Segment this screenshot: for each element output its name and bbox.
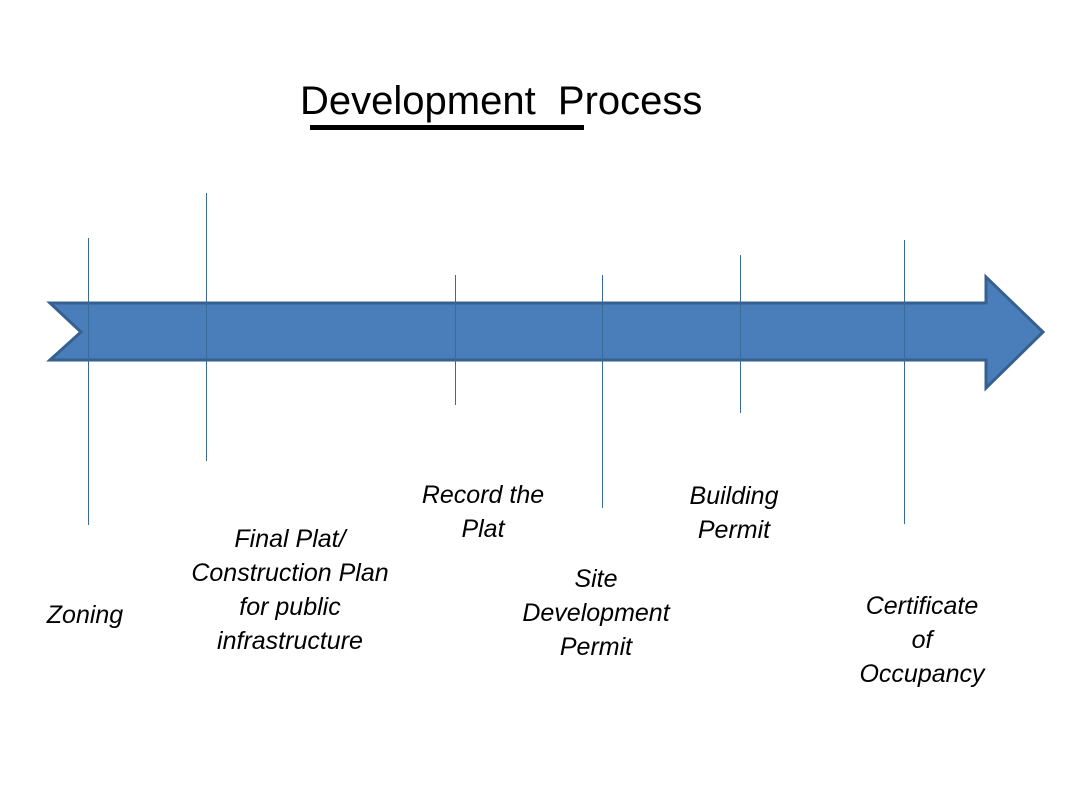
page-title-text: Development Process: [300, 79, 702, 123]
tick-site-development-permit: [602, 275, 603, 508]
process-arrow-shape: [50, 277, 1043, 388]
page-title: Development Process: [300, 78, 600, 124]
label-certificate-of-occupancy: Certificate of Occupancy: [797, 589, 1047, 691]
label-site-development-permit: Site Development Permit: [471, 562, 721, 664]
tick-zoning: [88, 238, 89, 525]
tick-certificate-of-occupancy: [904, 240, 905, 524]
tick-record-plat: [455, 275, 456, 405]
tick-final-plat: [206, 193, 207, 461]
page-title-underline: [310, 125, 584, 130]
slide-canvas: Development Process Zoning Final Plat/ C…: [0, 0, 1075, 785]
label-building-permit: Building Permit: [609, 479, 859, 547]
label-record-plat: Record the Plat: [358, 478, 608, 546]
tick-building-permit: [740, 255, 741, 413]
